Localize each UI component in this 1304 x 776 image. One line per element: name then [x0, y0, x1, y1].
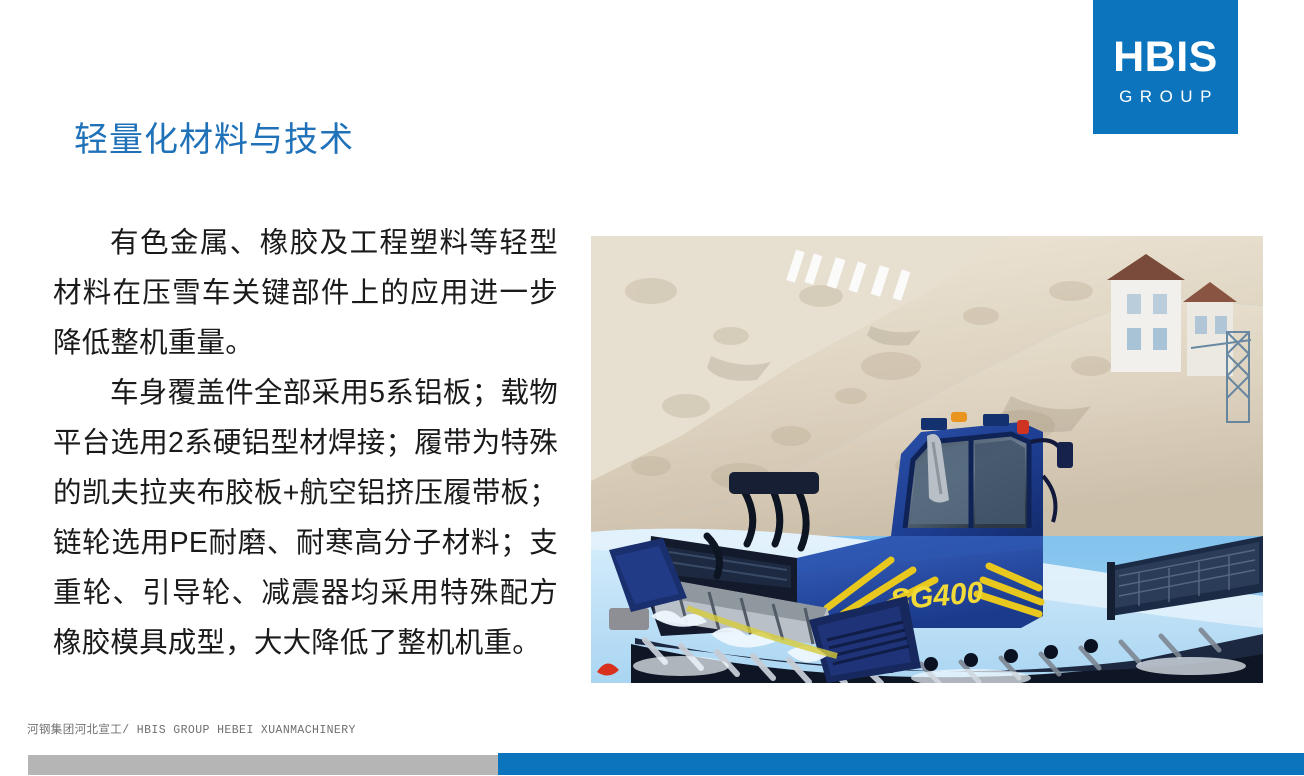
footer-caption: 河钢集团河北宣工/ HBIS GROUP HEBEI XUANMACHINERY	[27, 721, 356, 737]
logo-wordmark: HBIS	[1113, 36, 1218, 79]
snow-groomer-photo: SG400	[591, 236, 1263, 683]
body-text-column: 有色金属、橡胶及工程塑料等轻型材料在压雪车关键部件上的应用进一步降低整机重量。 …	[53, 218, 558, 668]
bottom-bar-gray-segment	[28, 755, 498, 775]
paragraph-1: 有色金属、橡胶及工程塑料等轻型材料在压雪车关键部件上的应用进一步降低整机重量。	[53, 218, 558, 368]
logo-subtitle: GROUP	[1119, 88, 1219, 105]
paragraph-2: 车身覆盖件全部采用5系铝板；载物平台选用2系硬铝型材焊接；履带为特殊的凯夫拉夹布…	[53, 368, 558, 668]
bottom-bar-blue-segment	[498, 753, 1304, 775]
hbis-group-logo: HBIS GROUP	[1093, 0, 1238, 134]
photo-illustration: SG400	[591, 236, 1263, 683]
page-title: 轻量化材料与技术	[74, 112, 354, 161]
bottom-decor-bar	[0, 746, 1304, 776]
slide-canvas: HBIS GROUP 轻量化材料与技术 有色金属、橡胶及工程塑料等轻型材料在压雪…	[0, 0, 1304, 776]
